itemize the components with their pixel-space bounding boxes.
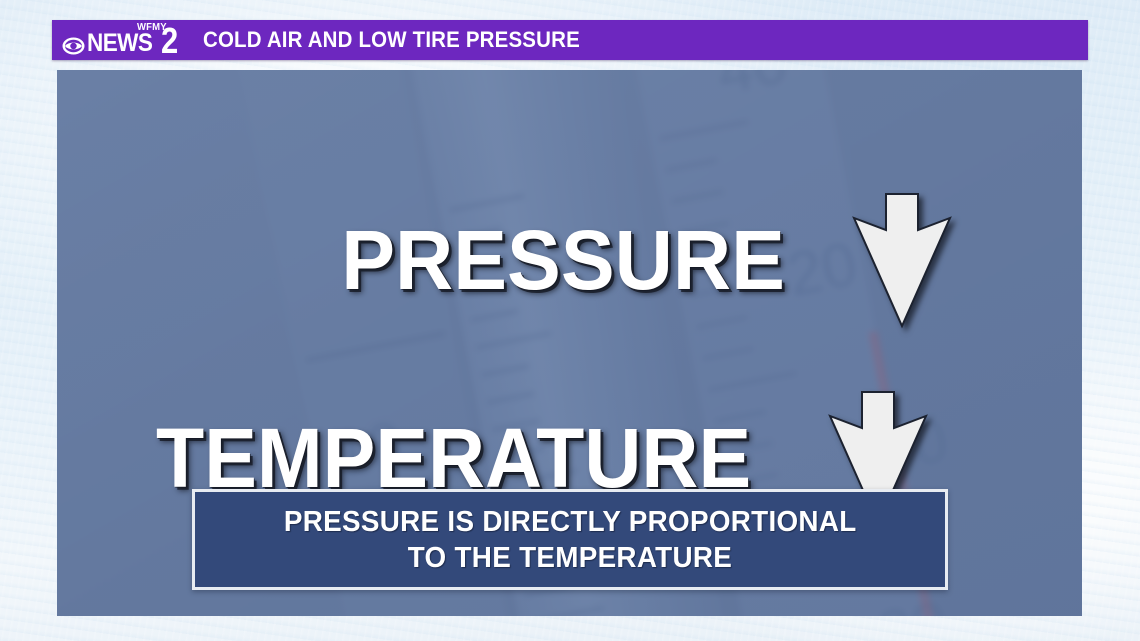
logo-channel-number: 2 [161, 23, 178, 59]
caption-line-1: PRESSURE IS DIRECTLY PROPORTIONAL [284, 504, 857, 540]
broadcast-graphic-screen: 40 20 0 10 30 20 30 PRESSURE TEM [0, 0, 1140, 641]
cbs-eye-icon [62, 37, 85, 55]
down-arrow-icon [850, 190, 954, 330]
banner-headline-text: COLD AIR AND LOW TIRE PRESSURE [203, 29, 580, 51]
logo-wordmark: NEWS WFMY 2 [87, 20, 181, 60]
logo-news-text: NEWS [87, 31, 152, 56]
wfmy-news2-logo: NEWS WFMY 2 [52, 20, 187, 60]
temperature-label: TEMPERATURE [156, 416, 751, 500]
caption-box: PRESSURE IS DIRECTLY PROPORTIONAL TO THE… [192, 489, 948, 590]
pressure-label: PRESSURE [341, 218, 785, 302]
pressure-row: PRESSURE [57, 190, 1082, 330]
headline-banner: NEWS WFMY 2 COLD AIR AND LOW TIRE PRESSU… [52, 20, 1088, 60]
caption-line-2: TO THE TEMPERATURE [408, 540, 732, 576]
